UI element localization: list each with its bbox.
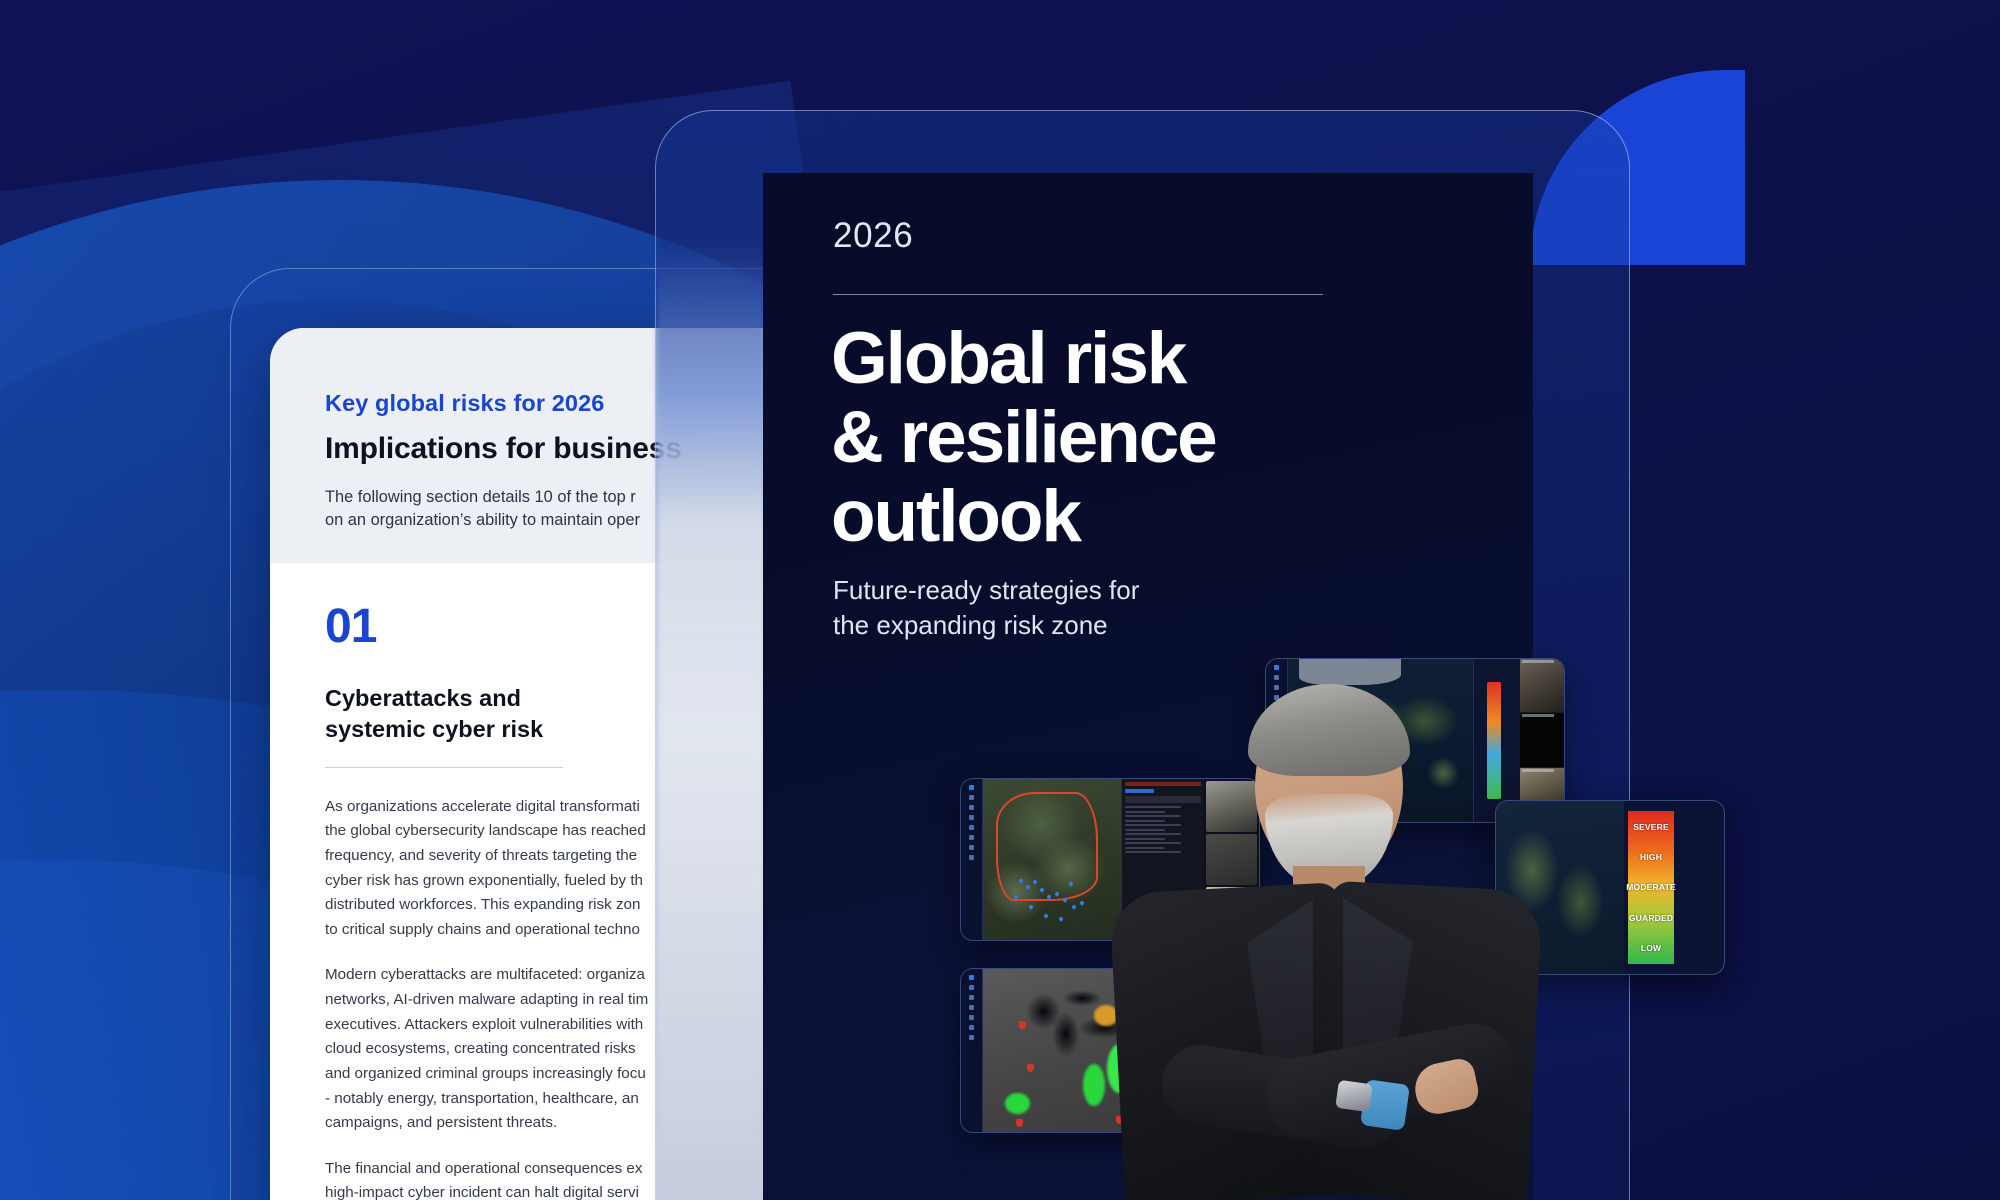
- cursor-icon[interactable]: [1274, 665, 1279, 670]
- cursor-icon[interactable]: [969, 785, 974, 790]
- layers-icon[interactable]: [969, 985, 974, 990]
- polygon-icon[interactable]: [969, 815, 974, 820]
- camera-icon[interactable]: [969, 835, 974, 840]
- location-pin[interactable]: [1019, 1021, 1026, 1029]
- layers-icon[interactable]: [1274, 675, 1279, 680]
- gear-icon[interactable]: [969, 855, 974, 860]
- layers-icon[interactable]: [969, 795, 974, 800]
- ruler-icon[interactable]: [969, 825, 974, 830]
- cover-year: 2026: [833, 216, 913, 256]
- resource-marker[interactable]: [1028, 904, 1034, 910]
- precipitation-cell: [1005, 1093, 1030, 1114]
- precipitation-cell: [1083, 1064, 1105, 1106]
- clock-icon[interactable]: [969, 1015, 974, 1020]
- presenter-wristwatch: [1335, 1080, 1373, 1112]
- cover-title-line-3: outlook: [831, 478, 1216, 557]
- section-divider: [325, 767, 563, 768]
- location-pin[interactable]: [1027, 1064, 1034, 1072]
- presenter-portrait: [1115, 690, 1535, 1200]
- alert-icon[interactable]: [969, 845, 974, 850]
- cover-title-line-2: & resilience: [831, 399, 1216, 478]
- resource-marker[interactable]: [1071, 904, 1077, 910]
- radar-icon[interactable]: [969, 995, 974, 1000]
- cover-subtitle: Future-ready strategies for the expandin…: [833, 573, 1139, 642]
- alert-icon[interactable]: [969, 1025, 974, 1030]
- location-pin[interactable]: [1016, 1119, 1023, 1127]
- cover-tablet-edge-highlight: [657, 112, 765, 1200]
- dashboard-toolbar-rail[interactable]: [961, 969, 983, 1132]
- cover-subtitle-line-1: Future-ready strategies for: [833, 573, 1139, 608]
- gear-icon[interactable]: [969, 1035, 974, 1040]
- severity-level-labels: SEVERE HIGH MODERATE GUARDED LOW: [1628, 811, 1674, 963]
- severity-level-guarded: GUARDED: [1629, 913, 1673, 923]
- resource-marker[interactable]: [1079, 901, 1085, 907]
- resource-marker[interactable]: [1043, 913, 1049, 919]
- cursor-icon[interactable]: [969, 975, 974, 980]
- severity-level-low: LOW: [1641, 943, 1661, 953]
- feed-label: [1522, 660, 1554, 663]
- cover-subtitle-line-2: the expanding risk zone: [833, 608, 1139, 643]
- dashboard-toolbar-rail[interactable]: [961, 779, 983, 940]
- cover-title: Global risk & resilience outlook: [831, 320, 1216, 556]
- presenter-hair: [1248, 684, 1410, 776]
- fire-perimeter-polygon: [996, 792, 1098, 901]
- severity-level-moderate: MODERATE: [1626, 882, 1676, 892]
- severity-level-severe: SEVERE: [1633, 822, 1669, 832]
- cover-divider: [833, 294, 1323, 295]
- cover-title-line-1: Global risk: [831, 320, 1216, 399]
- severity-level-high: HIGH: [1640, 852, 1662, 862]
- map-pin-icon[interactable]: [969, 1005, 974, 1010]
- incident-map-canvas[interactable]: [983, 779, 1121, 940]
- resource-marker[interactable]: [1058, 917, 1064, 923]
- map-pin-icon[interactable]: [969, 805, 974, 810]
- arctic-landmass: [1299, 659, 1401, 685]
